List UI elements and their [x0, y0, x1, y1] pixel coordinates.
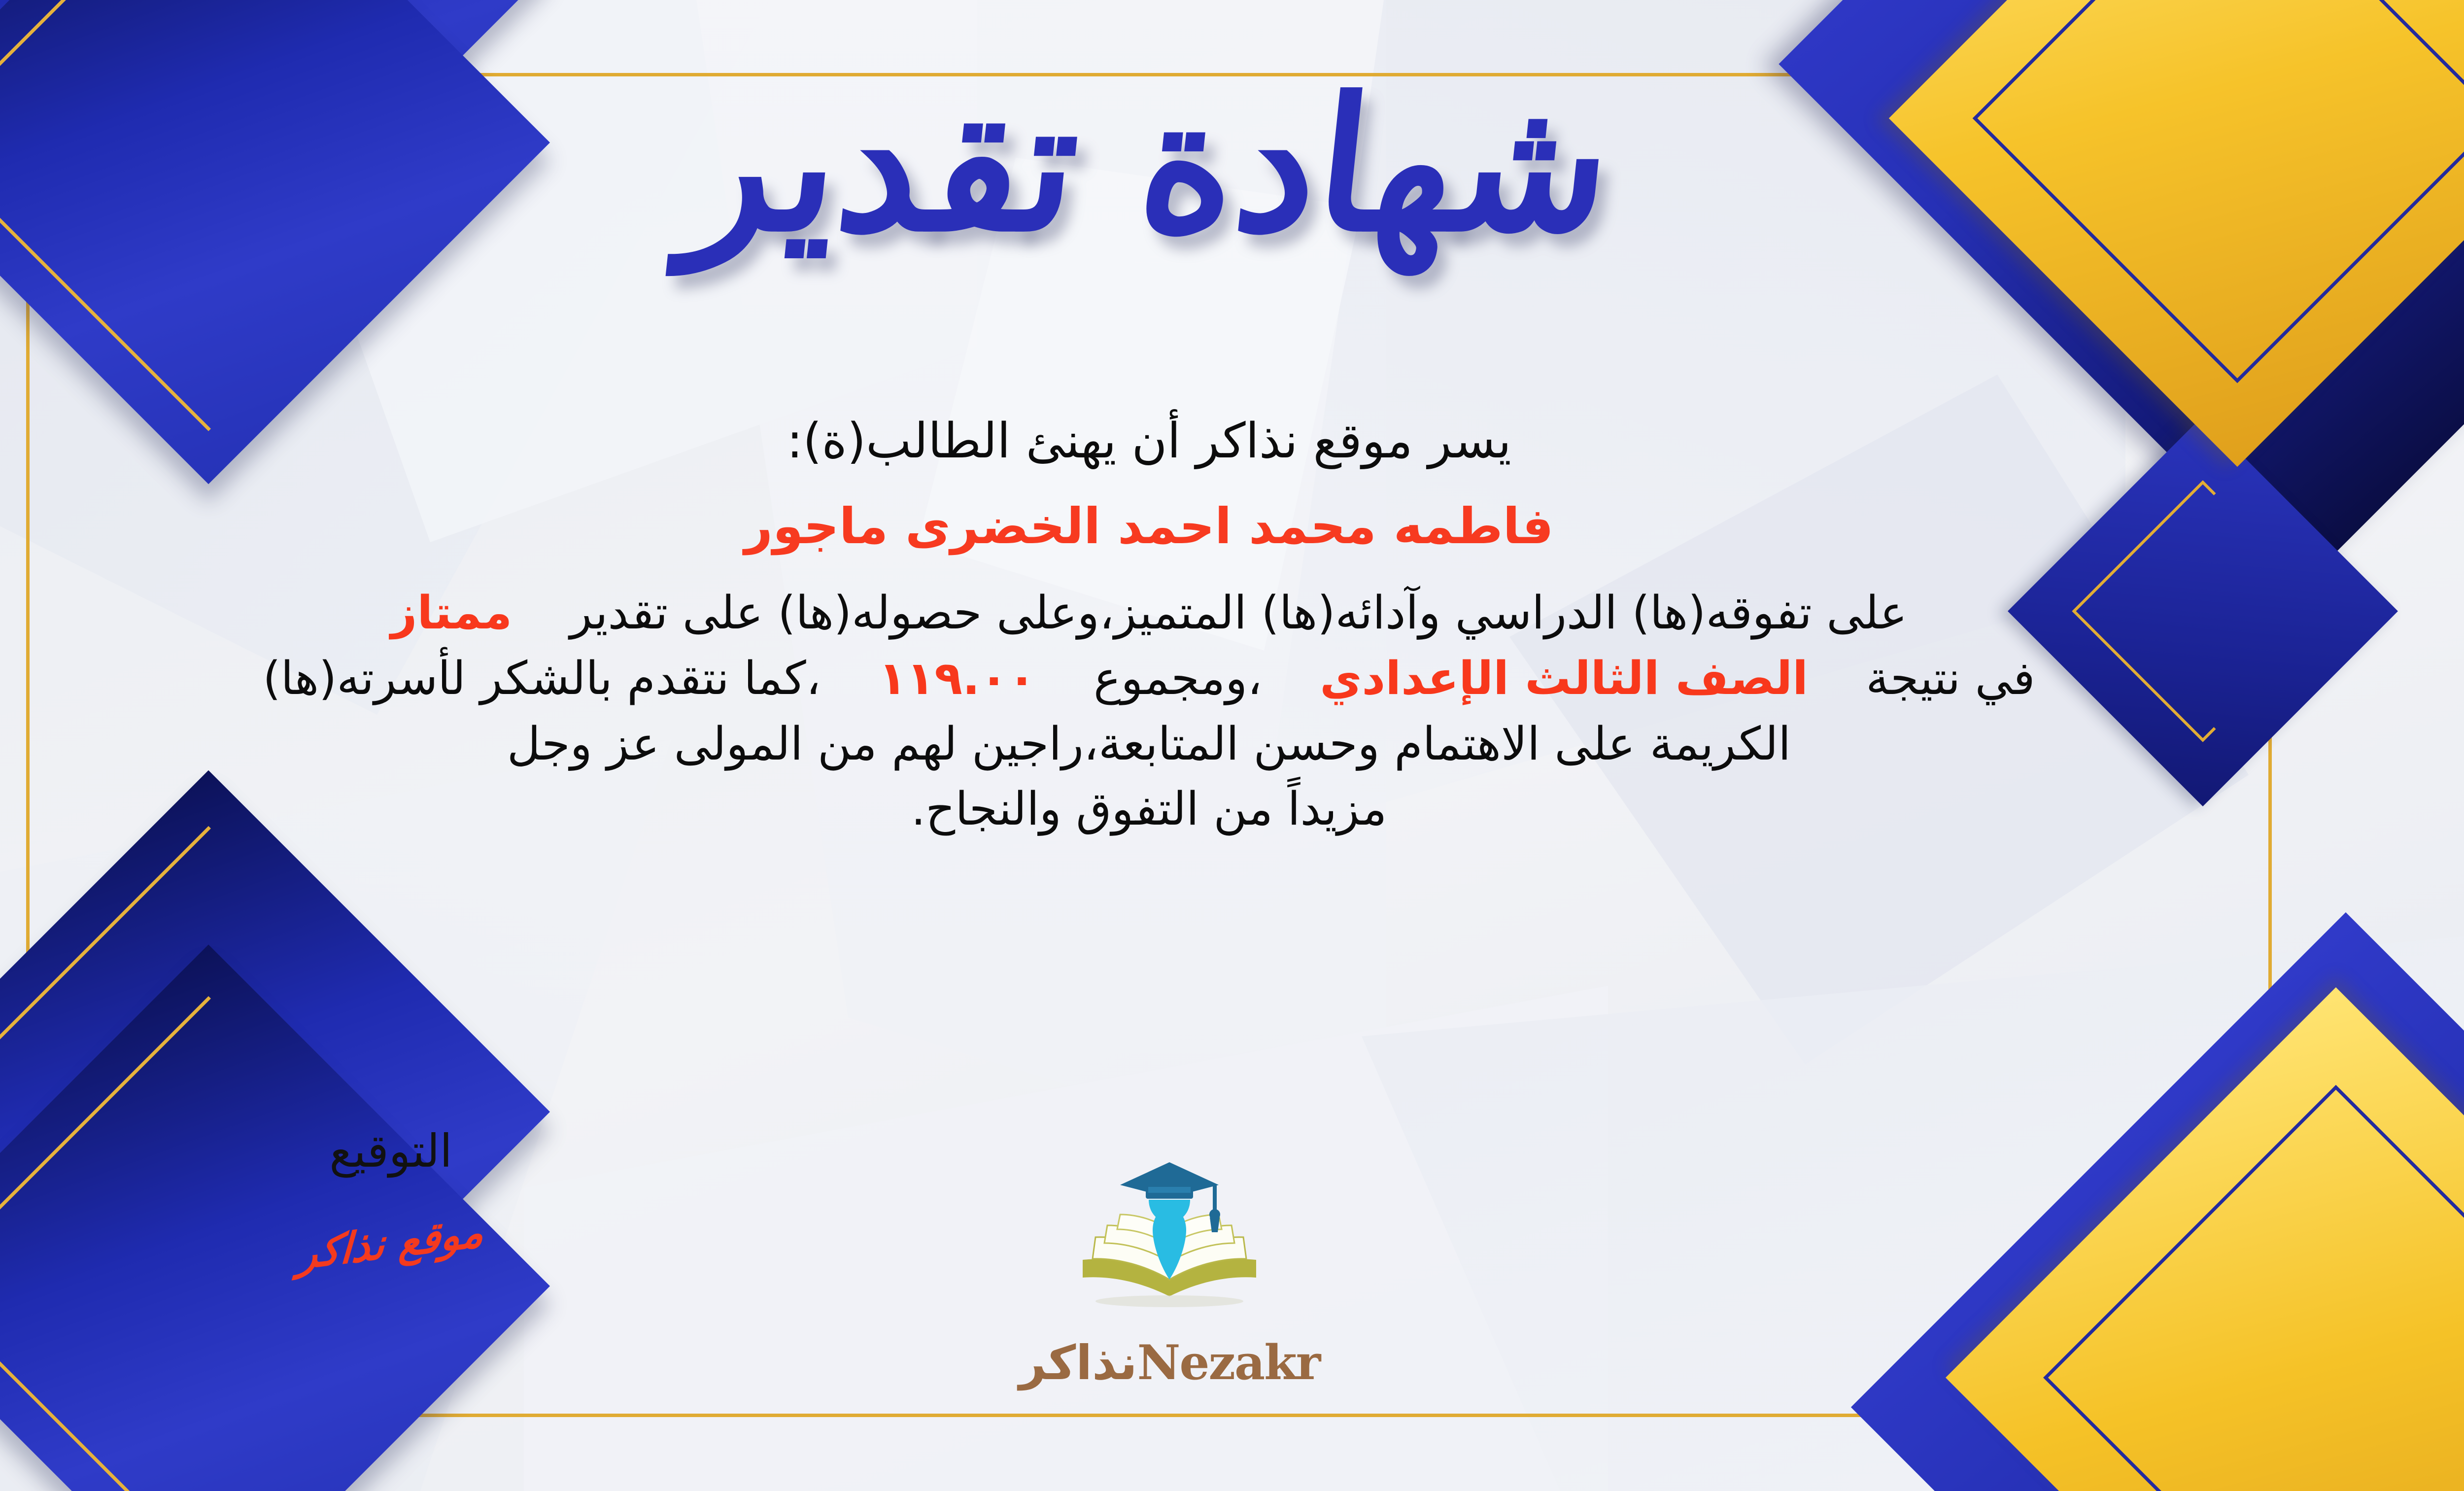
total-score-value: ١١٩.٠٠: [879, 652, 1036, 705]
grade-value: ممتاز: [391, 586, 512, 639]
achievement-line-4: مزيداً من التفوق والنجاح.: [0, 778, 2316, 840]
certificate-body: يسر موقع نذاكر أن يهنئ الطالب(ة): فاطمه …: [0, 409, 2316, 840]
signature-label: التوقيع: [238, 1129, 544, 1174]
achievement-text-1: على تفوقه(ها) الدراسي وآدائه(ها) المتميز…: [570, 586, 1907, 639]
achievement-line-2: في نتيجة الصف الثالث الإعدادي ،ومجموع ١١…: [0, 648, 2316, 709]
achievement-line-1: على تفوقه(ها) الدراسي وآدائه(ها) المتميز…: [0, 582, 2316, 644]
achievement-text-3: ،ومجموع: [1094, 652, 1262, 705]
class-value: الصف الثالث الإعدادي: [1320, 652, 1808, 705]
certificate-title: شهادة تقدير: [0, 74, 2464, 256]
student-name: فاطمه محمد احمد الخضرى ماجور: [0, 493, 2316, 559]
achievement-line-3: الكريمة على الاهتمام وحسن المتابعة،راجين…: [0, 713, 2316, 775]
achievement-text-4: ،كما نتقدم بالشكر لأسرته(ها): [263, 652, 821, 705]
logo-latin: Nezakr: [1137, 1335, 1320, 1390]
nezakr-logo: نذاكرNezakr: [982, 1134, 1357, 1390]
achievement-text-2: في نتيجة: [1866, 652, 2035, 705]
signature-block: التوقيع موقع نذاكر: [238, 1129, 544, 1267]
signature-mark: موقع نذاكر: [238, 1200, 544, 1286]
achievement-paragraph: على تفوقه(ها) الدراسي وآدائه(ها) المتميز…: [0, 582, 2316, 839]
logo-wordmark: نذاكرNezakr: [982, 1335, 1357, 1390]
certificate-canvas: شهادة تقدير يسر موقع نذاكر أن يهنئ الطال…: [0, 0, 2464, 1491]
certificate-content: شهادة تقدير يسر موقع نذاكر أن يهنئ الطال…: [0, 0, 2464, 1491]
logo-arabic: نذاكر: [1019, 1335, 1137, 1390]
graduation-book-icon: [1066, 1134, 1273, 1331]
intro-line: يسر موقع نذاكر أن يهنئ الطالب(ة):: [0, 409, 2316, 474]
